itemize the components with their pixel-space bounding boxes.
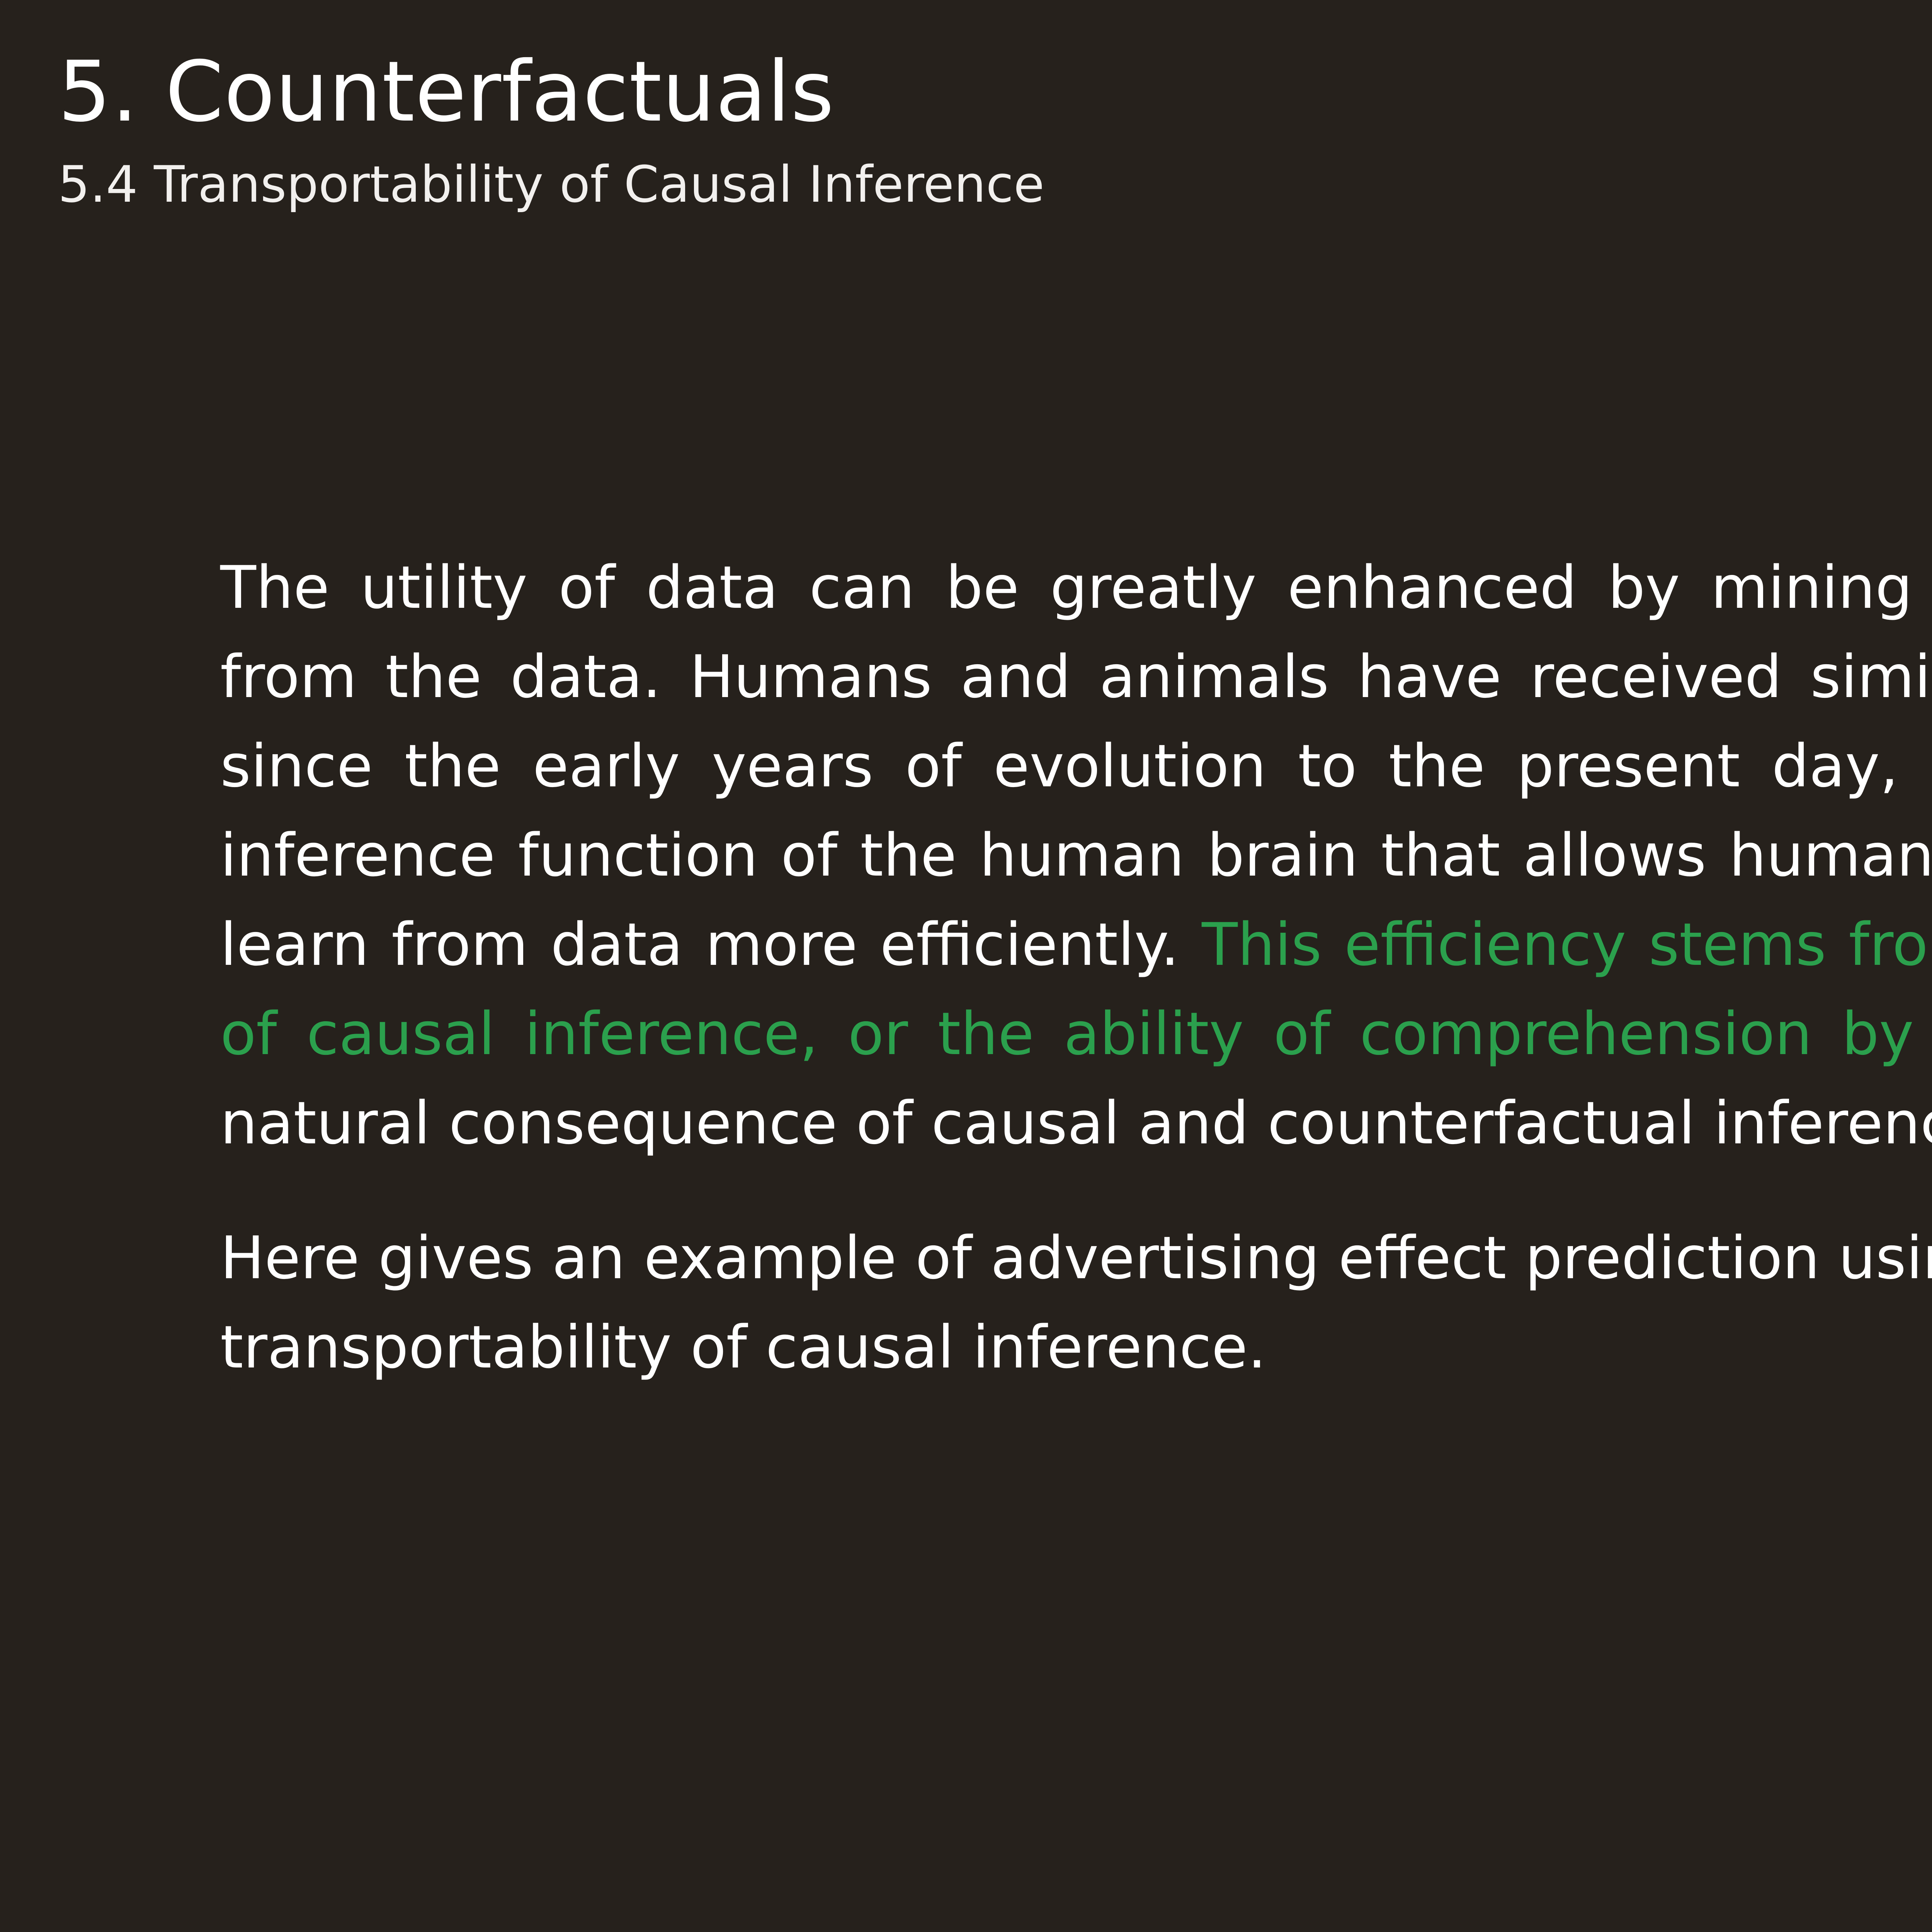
paragraph-2: Here gives an example of advertising eff… xyxy=(220,1213,1932,1392)
page-subtitle: 5.4 Transportability of Causal Inference xyxy=(58,159,1932,209)
slide-header: 5. Counterfactuals 5.4 Transportability … xyxy=(58,50,1932,209)
paragraph-1: The utility of data can be greatly enhan… xyxy=(220,543,1932,1168)
presentation-slide: 5. Counterfactuals 5.4 Transportability … xyxy=(0,0,1932,1932)
slide-body: The utility of data can be greatly enhan… xyxy=(220,543,1932,1392)
page-title: 5. Counterfactuals xyxy=(58,50,1932,134)
